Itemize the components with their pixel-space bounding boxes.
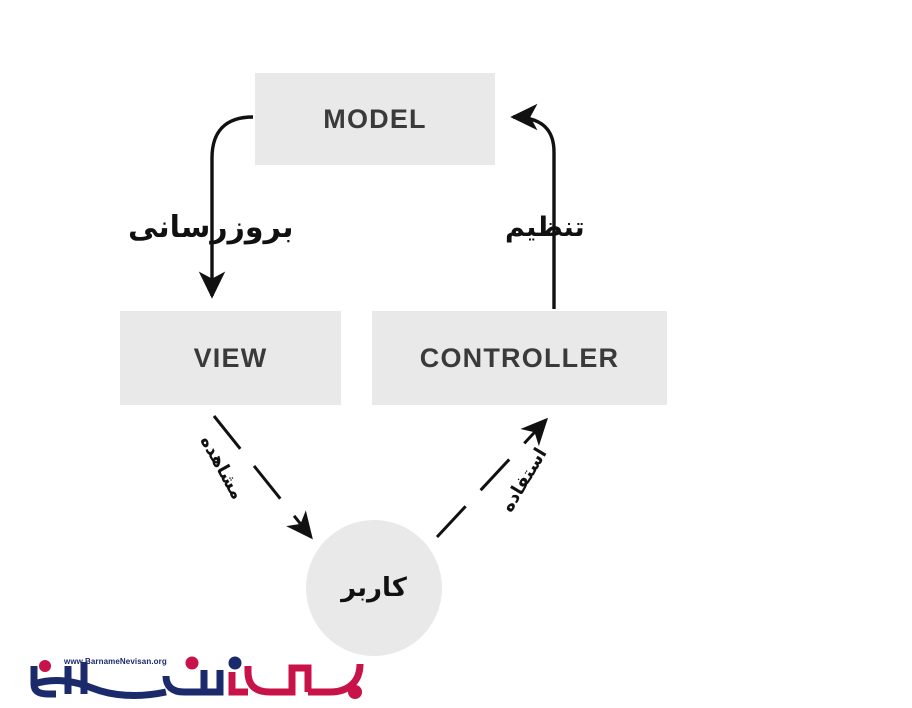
node-model[interactable]: MODEL	[255, 73, 495, 165]
node-user[interactable]: کاربر	[306, 520, 442, 656]
watermark-logo	[8, 648, 368, 706]
watermark-brand-crimson	[232, 664, 360, 692]
node-controller-label: CONTROLLER	[420, 343, 619, 374]
node-controller[interactable]: CONTROLLER	[372, 311, 667, 405]
node-user-label: کاربر	[341, 573, 407, 603]
watermark-dot-navy-1	[229, 657, 242, 670]
node-view-label: VIEW	[194, 343, 268, 374]
watermark-url-text: www.BarnameNevisan.org	[64, 657, 167, 666]
edge-label-update: بروزرسانی	[128, 210, 294, 245]
watermark-dot-crimson-3	[39, 660, 51, 672]
edge-model-to-view-arrow	[212, 117, 253, 296]
watermark-dot-crimson	[348, 685, 362, 699]
edge-label-adjust: تنظیم	[505, 212, 585, 243]
watermark-dot-crimson-2	[186, 657, 199, 670]
node-view[interactable]: VIEW	[120, 311, 341, 405]
node-model-label: MODEL	[323, 104, 427, 135]
